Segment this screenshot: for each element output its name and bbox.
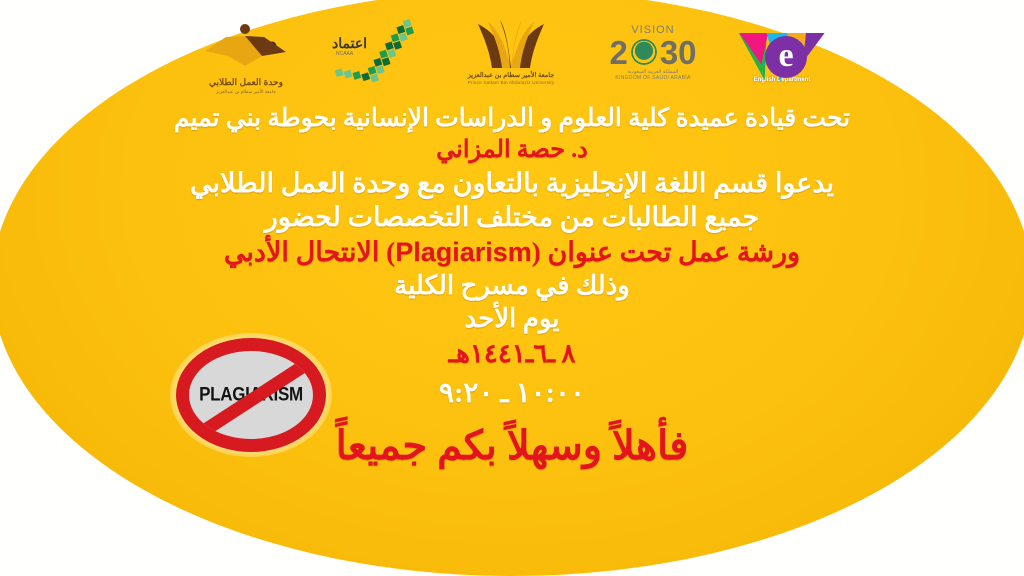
announcement-line-date: ٨ ـ٦ـ١٤٤١هـ bbox=[0, 339, 1024, 370]
saudi-emblem-icon bbox=[629, 37, 659, 67]
announcement-line-dean-name: د. حصة المزاني bbox=[0, 136, 1024, 164]
announcement-line-time: ١٠:٠٠ ـ ٩:٢٠ bbox=[0, 377, 1024, 410]
announcement-line-invitation: يدعوا قسم اللغة الإنجليزية بالتعاون مع و… bbox=[0, 168, 1024, 200]
announcement-line-audience: جميع الطالبات من مختلف التخصصات لحضور bbox=[0, 202, 1024, 234]
no-plagiarism-sign: PLAGIARISM bbox=[170, 333, 332, 457]
student-work-unit-title: وحدة العمل الطلابي bbox=[209, 77, 283, 88]
etemad-subtitle: NCAAA bbox=[336, 51, 353, 57]
workshop-title-prefix: ورشة عمل تحت عنوان ( bbox=[532, 237, 800, 267]
etemad-title: اعتماد bbox=[332, 35, 367, 52]
university-title-en: Prince Sattam Bin Abdulaziz University bbox=[468, 80, 555, 85]
english-department-logo: e English Department bbox=[734, 20, 830, 96]
vision-2030-sub-en: KINGDOM OF SAUDI ARABIA bbox=[615, 75, 690, 81]
announcement-line-venue: وذلك في مسرح الكلية bbox=[0, 271, 1024, 302]
student-work-unit-mark bbox=[194, 19, 298, 75]
university-title-ar: جامعة الأمير سطام بن عبدالعزيز bbox=[468, 71, 555, 79]
poster-canvas: وحدة العمل الطلابي جامعة الأمير سطام بن … bbox=[0, 0, 1024, 576]
announcement-line-welcome: فأهلاً وسهلاً بكم جميعاً bbox=[0, 422, 1024, 469]
workshop-title-latin: Plagiarism bbox=[395, 237, 532, 267]
vision-2030-digit-pair-left: 2 bbox=[609, 36, 627, 69]
university-book-mark bbox=[456, 20, 566, 68]
etemad-accreditation-logo: اعتماد NCAAA bbox=[324, 17, 424, 87]
announcement-line-dean-lead: تحت قيادة عميدة كلية العلوم و الدراسات ا… bbox=[0, 104, 1024, 134]
student-work-unit-subtitle: جامعة الأمير سطام بن عبدالعزيز bbox=[216, 89, 276, 95]
logo-strip: وحدة العمل الطلابي جامعة الأمير سطام بن … bbox=[0, 0, 1024, 104]
workshop-title-suffix: ) الانتحال الأدبي bbox=[224, 237, 395, 267]
prohibition-ring-icon: PLAGIARISM bbox=[176, 338, 326, 452]
english-department-mark: e bbox=[739, 33, 825, 83]
announcement-line-day: يوم الأحد bbox=[0, 304, 1024, 335]
vision-2030-digit-pair-right: 30 bbox=[660, 36, 697, 69]
announcement-text-block: تحت قيادة عميدة كلية العلوم و الدراسات ا… bbox=[0, 104, 1024, 470]
student-work-unit-logo: وحدة العمل الطلابي جامعة الأمير سطام بن … bbox=[194, 19, 298, 95]
english-letter-e: e bbox=[765, 36, 807, 78]
announcement-line-workshop-title: ورشة عمل تحت عنوان (Plagiarism) الانتحال… bbox=[0, 237, 1024, 269]
vision-2030-logo: VISION 2 30 المملكة العربية السعودية KIN… bbox=[598, 14, 708, 90]
prince-sattam-university-logo: جامعة الأمير سطام بن عبدالعزيز Prince Sa… bbox=[450, 12, 572, 92]
vision-2030-number: 2 30 bbox=[609, 36, 696, 69]
